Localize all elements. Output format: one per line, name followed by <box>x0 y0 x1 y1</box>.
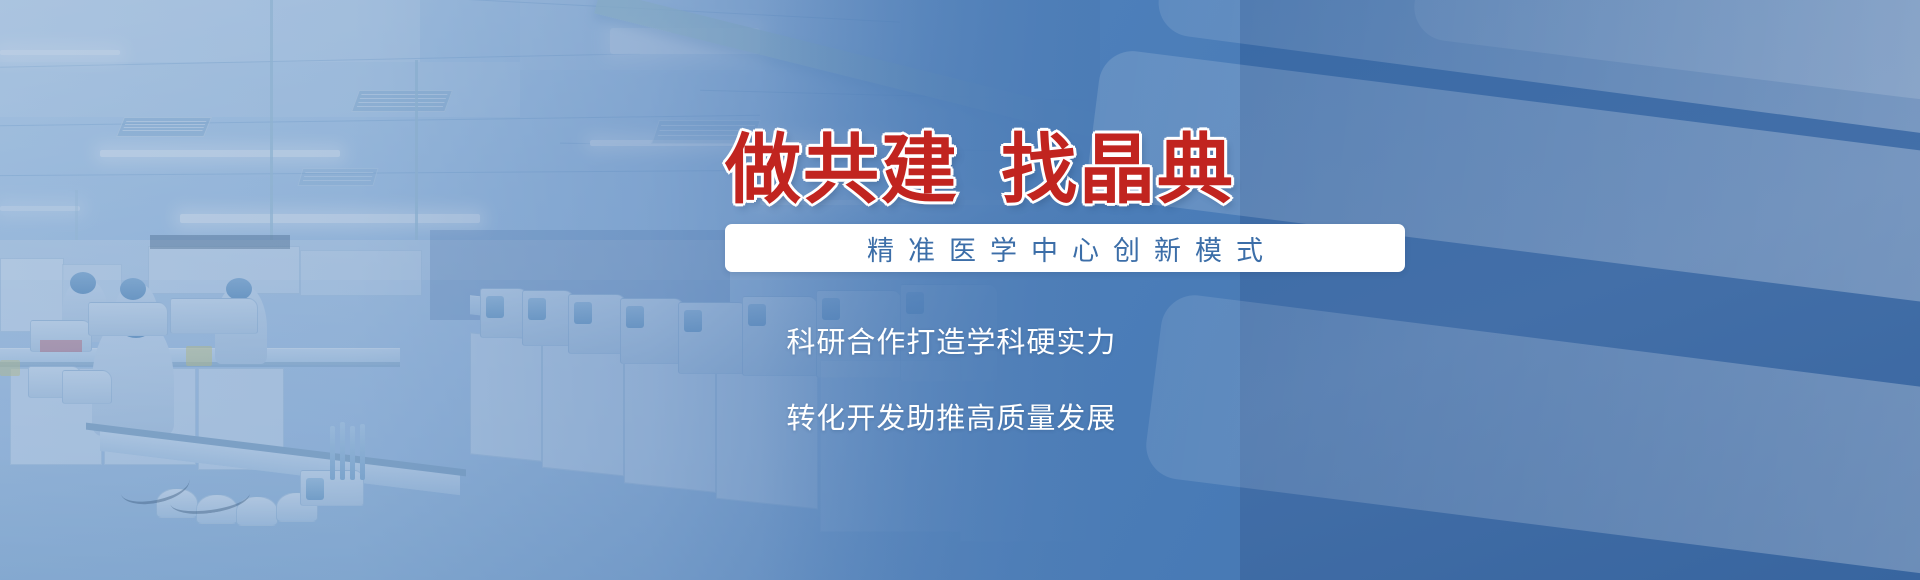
banner-text-block: 做共建 找晶典 精准医学中心创新模式 科研合作打造学科硬实力 转化开发助推高质量… <box>725 132 1405 471</box>
subtitle-text: 精准医学中心创新模式 <box>853 229 1277 268</box>
headline-left: 做共建 <box>725 132 959 208</box>
tagline-right: 转化开发助推高质量发展 <box>786 401 1116 435</box>
subtitle-bar: 精准医学中心创新模式 <box>725 224 1405 272</box>
tagline-left: 科研合作打造学科硬实力 <box>786 325 1116 359</box>
headline-right: 找晶典 <box>1001 132 1235 208</box>
promo-banner: 做共建 找晶典 精准医学中心创新模式 科研合作打造学科硬实力 转化开发助推高质量… <box>0 0 1920 580</box>
headline: 做共建 找晶典 <box>725 132 1405 208</box>
tagline: 科研合作打造学科硬实力 转化开发助推高质量发展 <box>725 285 1405 471</box>
